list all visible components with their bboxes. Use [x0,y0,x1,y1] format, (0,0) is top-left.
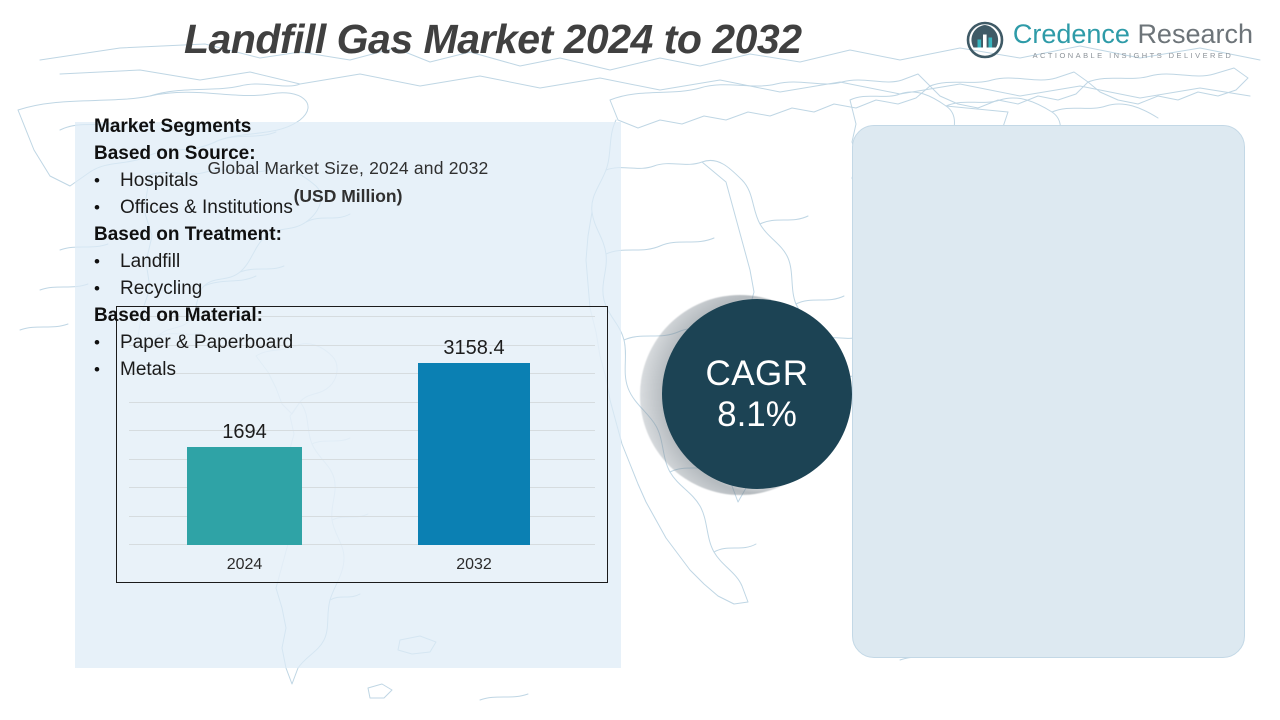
segment-item: •Recycling [94,276,414,303]
logo-name-secondary: Research [1137,19,1253,49]
segment-group-heading: Based on Treatment: [94,222,414,249]
segment-group-heading: Based on Source: [94,141,414,168]
segment-item-label: Landfill [120,249,180,276]
segments-list: Market Segments Based on Source:•Hospita… [94,114,414,384]
logo-name-primary: Credence [1013,19,1130,49]
segments-panel [852,125,1245,658]
cagr-value: 8.1% [717,396,797,433]
segments-title: Market Segments [94,114,414,141]
segment-item-label: Metals [120,357,176,384]
segment-groups: Based on Source:•Hospitals•Offices & Ins… [94,141,414,384]
segment-item-label: Paper & Paperboard [120,330,293,357]
bar-chart-circle-icon [966,21,1004,59]
logo-tagline: Actionable Insights Delivered [1013,52,1253,60]
infographic-slide: Landfill Gas Market 2024 to 2032 Credenc… [0,0,1280,720]
segment-item: •Offices & Institutions [94,195,414,222]
segment-item-label: Recycling [120,276,202,303]
cagr-label: CAGR [705,355,808,392]
bar-value-label-2032: 3158.4 [418,337,530,360]
page-title: Landfill Gas Market 2024 to 2032 [184,16,802,63]
bullet-icon: • [94,277,120,301]
bar-2024 [187,447,302,545]
segment-item: •Landfill [94,249,414,276]
bullet-icon: • [94,196,120,220]
segment-item: •Hospitals [94,168,414,195]
brand-logo: Credence Research Actionable Insights De… [966,21,1253,60]
segment-group-heading: Based on Material: [94,303,414,330]
cagr-badge: CAGR 8.1% [640,291,870,521]
segment-item: •Paper & Paperboard [94,330,414,357]
bar-category-label-2024: 2024 [187,556,302,574]
bullet-icon: • [94,358,120,382]
bullet-icon: • [94,250,120,274]
segment-item-label: Hospitals [120,168,198,195]
segment-item-label: Offices & Institutions [120,195,293,222]
logo-wordmark: Credence Research Actionable Insights De… [1013,21,1253,60]
segment-item: •Metals [94,357,414,384]
bar-2032 [418,363,530,545]
bar-value-label-2024: 1694 [187,421,302,444]
cagr-circle: CAGR 8.1% [662,299,852,489]
bar-category-label-2032: 2032 [418,556,530,574]
bullet-icon: • [94,169,120,193]
bullet-icon: • [94,331,120,355]
